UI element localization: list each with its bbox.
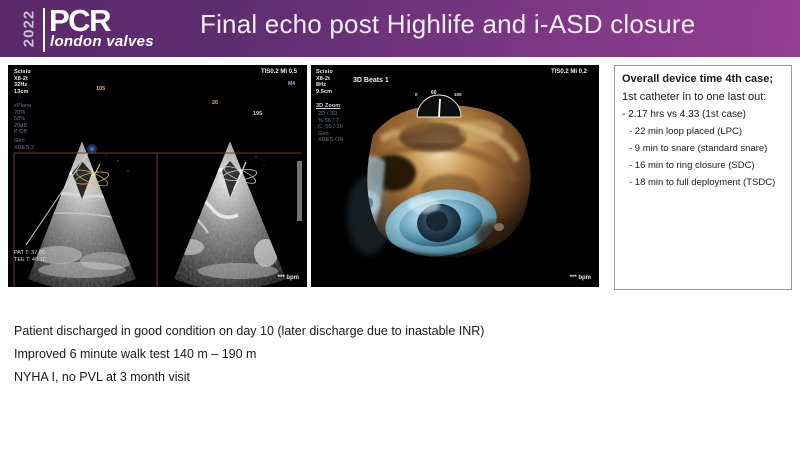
slide-header: 2022 PCR london valves Final echo post H…: [0, 0, 800, 57]
echo-right-beats-label: 3D Beats 1: [353, 77, 389, 84]
volume-render: [311, 65, 599, 287]
outcome-line-1: Patient discharged in good condition on …: [14, 322, 614, 341]
logo-divider: [43, 8, 45, 52]
biplane-echo-render: [8, 65, 307, 287]
notes-subline: 1st catheter in to one last out:: [622, 90, 784, 104]
echo-left-plane-angle-c: 195: [253, 111, 262, 117]
echo-left-tis-mi: TIS0.2 MI 0.5: [261, 69, 297, 75]
outcome-summary: Patient discharged in good condition on …: [14, 322, 614, 391]
echo-left-processing-info: Gen XRES 2: [14, 138, 34, 151]
logo-year: 2022: [21, 7, 38, 51]
echo-right-tis-mi: TIS0.2 MI 0.2: [551, 69, 587, 75]
list-item: - 2.17 hrs vs 4.33 (1st case): [622, 108, 784, 121]
echo-right-zoom-label: 3D Zoom: [316, 103, 340, 110]
outcome-line-2: Improved 6 minute walk test 140 m – 190 …: [14, 345, 614, 364]
list-item: - 18 min to full deployment (TSDC): [622, 176, 784, 189]
logo-subtitle: london valves: [50, 33, 154, 50]
device-time-notes-box: Overall device time 4th case; 1st cathet…: [614, 65, 792, 290]
echo-left-mode-info: xPlane 70% 58% 20dB P Off: [14, 103, 31, 136]
gauge-min-label: 0: [415, 92, 418, 97]
echo-right-mode-info: 2D / 3D % 56 / 7 C 50 / 30 Gen XRES ON: [318, 111, 343, 144]
list-item: - 16 min to ring closure (SDC): [622, 159, 784, 172]
echo-right-bpm: *** bpm: [570, 275, 591, 281]
gauge-max-label: 100: [454, 92, 462, 97]
page-title: Final echo post Highlife and i-ASD closu…: [200, 9, 695, 40]
echo-right-system-info: Scisio X8-2t 8Hz 9.5cm: [316, 69, 333, 95]
outcome-line-3: NYHA I, no PVL at 3 month visit: [14, 368, 614, 387]
list-item: - 9 min to snare (standard snare): [622, 142, 784, 155]
echo-image-biplane-2d[interactable]: Scisio X8-2t 32Hz 13cm xPlane 70% 58% 20…: [8, 65, 307, 287]
echo-left-temperatures: PAT T: 37.0C TEE T: 40.1C: [14, 250, 47, 263]
echo-left-plane-angle-b: 26: [212, 100, 218, 106]
list-item: - 22 min loop placed (LPC): [622, 125, 784, 138]
echo-left-bpm: *** bpm: [278, 275, 299, 281]
notes-heading: Overall device time 4th case;: [622, 72, 784, 86]
echo-left-probe-tag: M4: [288, 81, 295, 87]
echo-left-plane-angle-a: 105: [96, 86, 105, 92]
echo-left-system-info: Scisio X8-2t 32Hz 13cm: [14, 69, 31, 95]
pcr-london-valves-logo: 2022 PCR london valves: [16, 6, 166, 54]
echo-image-3d-volume[interactable]: Scisio X8-2t 8Hz 9.5cm 3D Zoom 2D / 3D %…: [311, 65, 599, 287]
gauge-value-label: 60: [431, 90, 437, 96]
